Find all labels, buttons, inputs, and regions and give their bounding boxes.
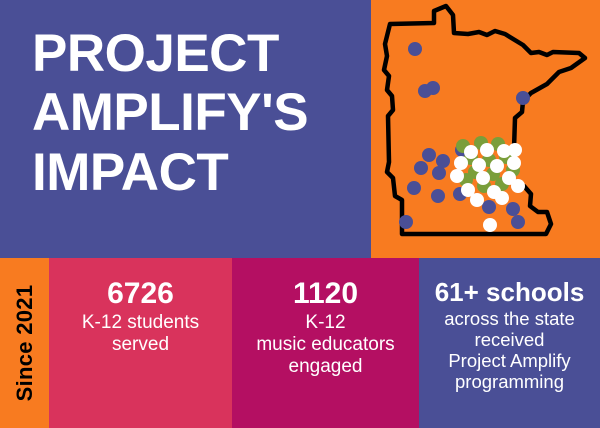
map-dot-blue bbox=[399, 215, 413, 229]
map-dot-blue bbox=[407, 181, 421, 195]
stat-card-schools-reached: 61+ schools across the state received Pr… bbox=[419, 258, 600, 428]
stat-number: 61+ schools bbox=[435, 278, 585, 306]
since-label: Since 2021 bbox=[0, 258, 49, 428]
map-dot-blue bbox=[431, 189, 445, 203]
stat-card-music-educators-engaged: 1120 K-12 music educators engaged bbox=[232, 258, 419, 428]
map-dot-white bbox=[483, 218, 497, 232]
map-dot-white bbox=[450, 169, 464, 183]
stat-number: 6726 bbox=[107, 278, 174, 310]
stats-section: Since 2021 6726 K-12 students served 112… bbox=[0, 258, 600, 428]
map-panel bbox=[371, 0, 600, 258]
map-dot-white bbox=[464, 145, 478, 159]
since-panel: Since 2021 bbox=[0, 258, 49, 428]
map-dot-white bbox=[490, 159, 504, 173]
infographic-root: PROJECT AMPLIFY'S IMPACT Since 2021 6726… bbox=[0, 0, 600, 428]
map-dot-white bbox=[508, 143, 522, 157]
map-dot-white bbox=[470, 193, 484, 207]
map-dot-blue bbox=[436, 154, 450, 168]
minnesota-state-outline-icon bbox=[384, 6, 585, 234]
stat-label: across the state received Project Amplif… bbox=[440, 308, 579, 392]
map-dot-white bbox=[476, 171, 490, 185]
map-dot-blue bbox=[414, 161, 428, 175]
map-dot-blue bbox=[506, 202, 520, 216]
map-dot-blue bbox=[408, 42, 422, 56]
stat-number: 1120 bbox=[293, 278, 358, 310]
map-dot-white bbox=[454, 156, 468, 170]
map-dot-blue bbox=[422, 148, 436, 162]
map-dot-white bbox=[507, 156, 521, 170]
map-dot-blue bbox=[426, 81, 440, 95]
header-section: PROJECT AMPLIFY'S IMPACT bbox=[0, 0, 600, 258]
map-dot-blue bbox=[432, 166, 446, 180]
minnesota-map bbox=[371, 0, 600, 258]
stat-label: K-12 music educators engaged bbox=[252, 312, 398, 377]
map-dot-white bbox=[480, 143, 494, 157]
map-dot-white bbox=[495, 191, 509, 205]
map-dot-white bbox=[472, 158, 486, 172]
page-title: PROJECT AMPLIFY'S IMPACT bbox=[32, 24, 362, 202]
map-dot-blue bbox=[516, 91, 530, 105]
title-panel: PROJECT AMPLIFY'S IMPACT bbox=[0, 0, 371, 258]
map-dot-blue bbox=[511, 215, 525, 229]
map-dot-blue bbox=[482, 200, 496, 214]
stat-label: K-12 students served bbox=[78, 312, 203, 355]
map-dot-layer bbox=[399, 42, 530, 232]
stat-card-students-served: 6726 K-12 students served bbox=[49, 258, 232, 428]
map-dot-white bbox=[511, 179, 525, 193]
